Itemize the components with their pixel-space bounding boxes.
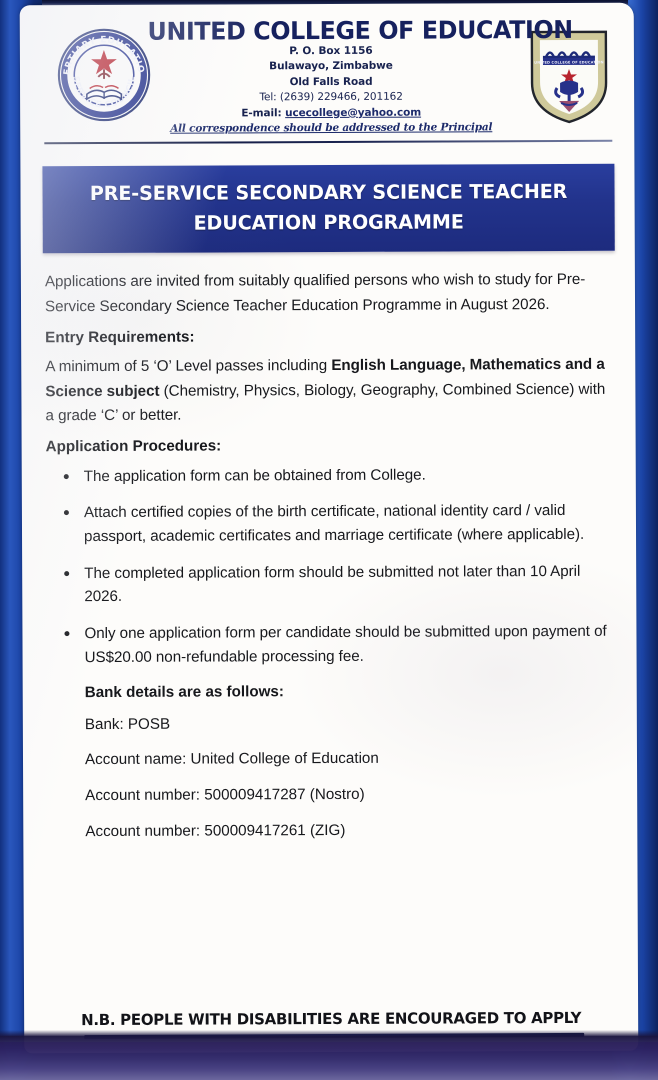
disabilities-note: N.B. PEOPLE WITH DISABILITIES ARE ENCOUR… xyxy=(44,1009,618,1030)
application-procedures-heading: Application Procedures: xyxy=(46,433,608,460)
email-line: E-mail: ucecollege@yahoo.com xyxy=(142,105,520,122)
street-line: Old Falls Road xyxy=(142,74,520,91)
college-name: UNITED COLLEGE OF EDUCATION xyxy=(147,17,514,44)
banner-line-2: EDUCATION PROGRAMME xyxy=(58,206,599,238)
notice-body: Applications are invited from suitably q… xyxy=(35,251,624,844)
bank-account-number-nostro: Account number: 500009417287 (Nostro) xyxy=(85,783,609,808)
header-divider xyxy=(44,140,612,144)
banner-line-1: PRE-SERVICE SECONDARY SCIENCE TEACHER xyxy=(58,177,599,209)
entry-requirements-heading: Entry Requirements: xyxy=(45,323,607,350)
list-item: The application form can be obtained fro… xyxy=(46,462,608,488)
email-label: E-mail: xyxy=(241,107,281,119)
email-address[interactable]: ucecollege@yahoo.com xyxy=(285,106,421,119)
programme-title-banner: PRE-SERVICE SECONDARY SCIENCE TEACHER ED… xyxy=(42,164,614,254)
entry-req-text-1: A minimum of 5 ‘O’ Level passes includin… xyxy=(45,357,331,375)
list-item: The completed application form should be… xyxy=(46,560,608,610)
bank-account-name-line: Account name: United College of Educatio… xyxy=(85,747,609,772)
city-line: Bulawayo, Zimbabwe xyxy=(142,58,520,75)
bank-details-heading: Bank details are as follows: xyxy=(85,681,609,700)
intro-paragraph: Applications are invited from suitably q… xyxy=(45,268,607,320)
application-procedures-list: The application form can be obtained fro… xyxy=(46,462,609,669)
bank-details-block: Bank details are as follows: Bank: POSB … xyxy=(47,681,610,844)
entry-requirements-paragraph: A minimum of 5 ‘O’ Level passes includin… xyxy=(45,353,607,429)
correspondence-note: All correspondence should be addressed t… xyxy=(142,122,520,136)
bank-name-line: Bank: POSB xyxy=(85,711,609,736)
telephone-line: Tel: (2639) 229466, 201162 xyxy=(142,89,520,106)
list-item: Attach certified copies of the birth cer… xyxy=(46,499,608,549)
list-item: Only one application form per candidate … xyxy=(46,620,608,670)
tertiary-education-service-council-seal-icon: TERTIARY EDUCATION SERVICE COUNCIL xyxy=(56,27,152,123)
notice-page: TERTIARY EDUCATION SERVICE COUNCIL xyxy=(20,3,639,1054)
bank-account-number-zig: Account number: 500009417261 (ZIG) xyxy=(85,819,609,844)
page-bottom-edge xyxy=(0,1036,658,1080)
svg-text:UNITED COLLEGE OF EDUCATION: UNITED COLLEGE OF EDUCATION xyxy=(534,60,604,64)
letterhead: TERTIARY EDUCATION SERVICE COUNCIL xyxy=(34,3,621,158)
